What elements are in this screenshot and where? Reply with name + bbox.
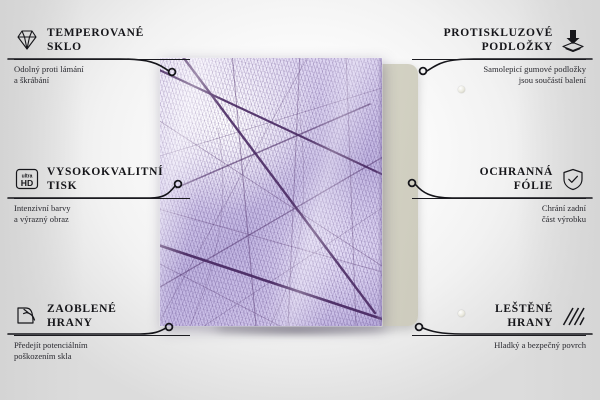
divider xyxy=(14,59,190,60)
feature-title: LEŠTĚNÉ HRANY xyxy=(495,302,553,330)
feature-protective-film: OCHRANNÁ FÓLIE Chrání zadní část výrobku xyxy=(412,165,586,225)
feature-polished-edges: LEŠTĚNÉ HRANY Hladký a bezpečný povrch xyxy=(412,302,586,351)
diagonal-lines-icon xyxy=(560,304,586,328)
divider xyxy=(412,335,586,336)
feature-header: ZAOBLENÉ HRANY xyxy=(14,302,190,330)
feature-description: Samolepicí gumové podložky jsou součástí… xyxy=(412,64,586,86)
feature-description: Chrání zadní část výrobku xyxy=(412,203,586,225)
printed-glass-panel xyxy=(160,58,382,326)
feature-header: ultra HD VYSOKOKVALITNÍ TISK xyxy=(14,165,190,193)
feature-title: TEMPEROVANÉ SKLO xyxy=(47,26,144,54)
feature-description: Hladký a bezpečný povrch xyxy=(412,340,586,351)
feature-header: TEMPEROVANÉ SKLO xyxy=(14,26,190,54)
rounded-corner-icon xyxy=(14,304,40,328)
feature-description: Odolný proti lámání a škrábání xyxy=(14,64,190,86)
feature-title: OCHRANNÁ FÓLIE xyxy=(480,165,553,193)
divider xyxy=(412,198,586,199)
feature-header: PROTISKLUZOVÉ PODLOŽKY xyxy=(412,26,586,54)
anti-slip-pad xyxy=(458,86,465,93)
ultra-hd-icon: ultra HD xyxy=(14,167,40,191)
feature-description: Intenzivní barvy a výrazný obraz xyxy=(14,203,190,225)
feature-rounded-edges: ZAOBLENÉ HRANY Předejít potenciálním poš… xyxy=(14,302,190,362)
diamond-icon xyxy=(14,28,40,52)
shield-check-icon xyxy=(560,167,586,191)
feature-description: Předejít potenciálním poškozením skla xyxy=(14,340,190,362)
divider xyxy=(14,198,190,199)
feature-high-quality-print: ultra HD VYSOKOKVALITNÍ TISK Intenzivní … xyxy=(14,165,190,225)
feature-header: OCHRANNÁ FÓLIE xyxy=(412,165,586,193)
divider xyxy=(14,335,190,336)
ultra-hd-big-label: HD xyxy=(21,178,33,188)
leaf-vein-lines xyxy=(160,58,382,326)
feature-header: LEŠTĚNÉ HRANY xyxy=(412,302,586,330)
feature-title: PROTISKLUZOVÉ PODLOŽKY xyxy=(444,26,553,54)
infographic-canvas: TEMPEROVANÉ SKLO Odolný proti lámání a š… xyxy=(0,0,600,400)
feature-title: ZAOBLENÉ HRANY xyxy=(47,302,117,330)
feature-anti-slip-pads: PROTISKLUZOVÉ PODLOŽKY Samolepicí gumové… xyxy=(412,26,586,86)
glass-right-edge xyxy=(377,58,382,326)
feature-tempered-glass: TEMPEROVANÉ SKLO Odolný proti lámání a š… xyxy=(14,26,190,86)
product-illustration xyxy=(160,58,420,330)
stacked-arrow-down-icon xyxy=(560,28,586,52)
feature-title: VYSOKOKVALITNÍ TISK xyxy=(47,165,163,193)
divider xyxy=(412,59,586,60)
